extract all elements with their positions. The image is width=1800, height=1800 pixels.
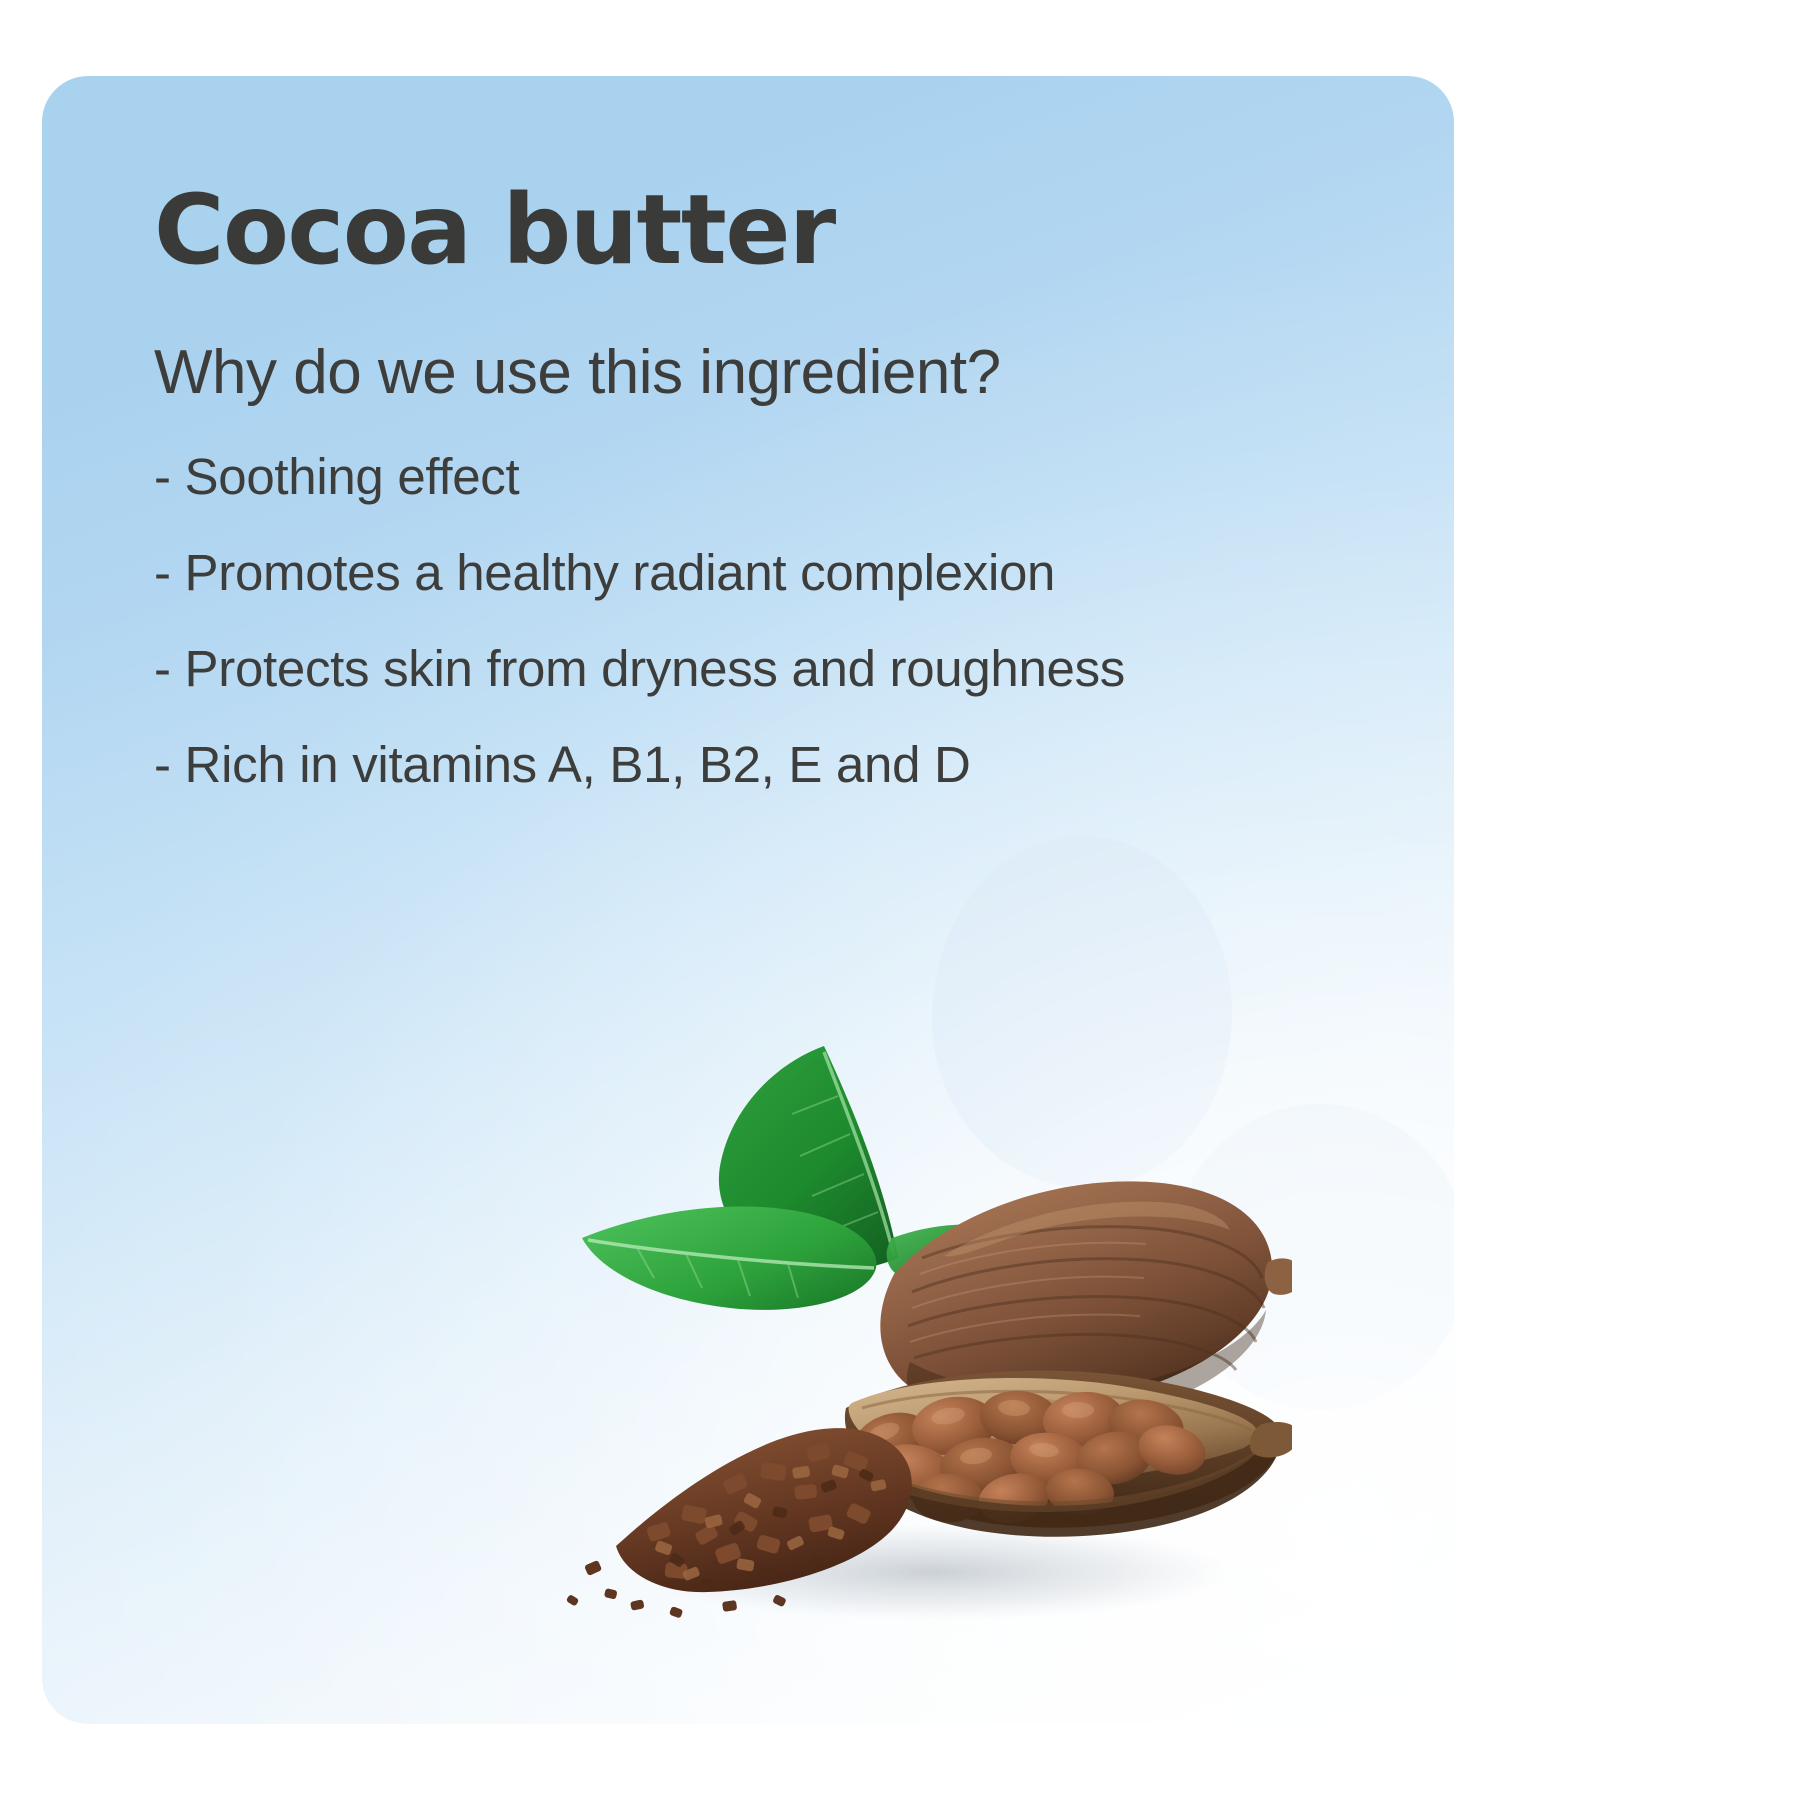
ingredient-card: Cocoa butter Why do we use this ingredie… bbox=[42, 76, 1454, 1724]
page-root: Cocoa butter Why do we use this ingredie… bbox=[0, 0, 1800, 1800]
cocoa-pod-photo bbox=[562, 1006, 1292, 1626]
list-item: - Protects skin from dryness and roughne… bbox=[154, 643, 1384, 694]
decorative-petal-blob-lower bbox=[1172, 1104, 1454, 1410]
benefits-list: - Soothing effect - Promotes a healthy r… bbox=[154, 451, 1384, 790]
cocoa-pod-whole bbox=[880, 1181, 1292, 1426]
decorative-petal-blob-upper bbox=[932, 836, 1232, 1188]
page-title: Cocoa butter bbox=[154, 182, 1384, 278]
cocoa-nibs-pile bbox=[566, 1428, 912, 1618]
cocoa-pod-open-half bbox=[845, 1371, 1292, 1537]
list-item: - Soothing effect bbox=[154, 451, 1384, 502]
list-item: - Promotes a healthy radiant complexion bbox=[154, 547, 1384, 598]
card-content: Cocoa butter Why do we use this ingredie… bbox=[154, 182, 1384, 790]
leaf-group bbox=[582, 1046, 1021, 1310]
cocoa-beans bbox=[845, 1387, 1210, 1529]
card-subtitle: Why do we use this ingredient? bbox=[154, 340, 1384, 407]
list-item: - Rich in vitamins A, B1, B2, E and D bbox=[154, 739, 1384, 790]
